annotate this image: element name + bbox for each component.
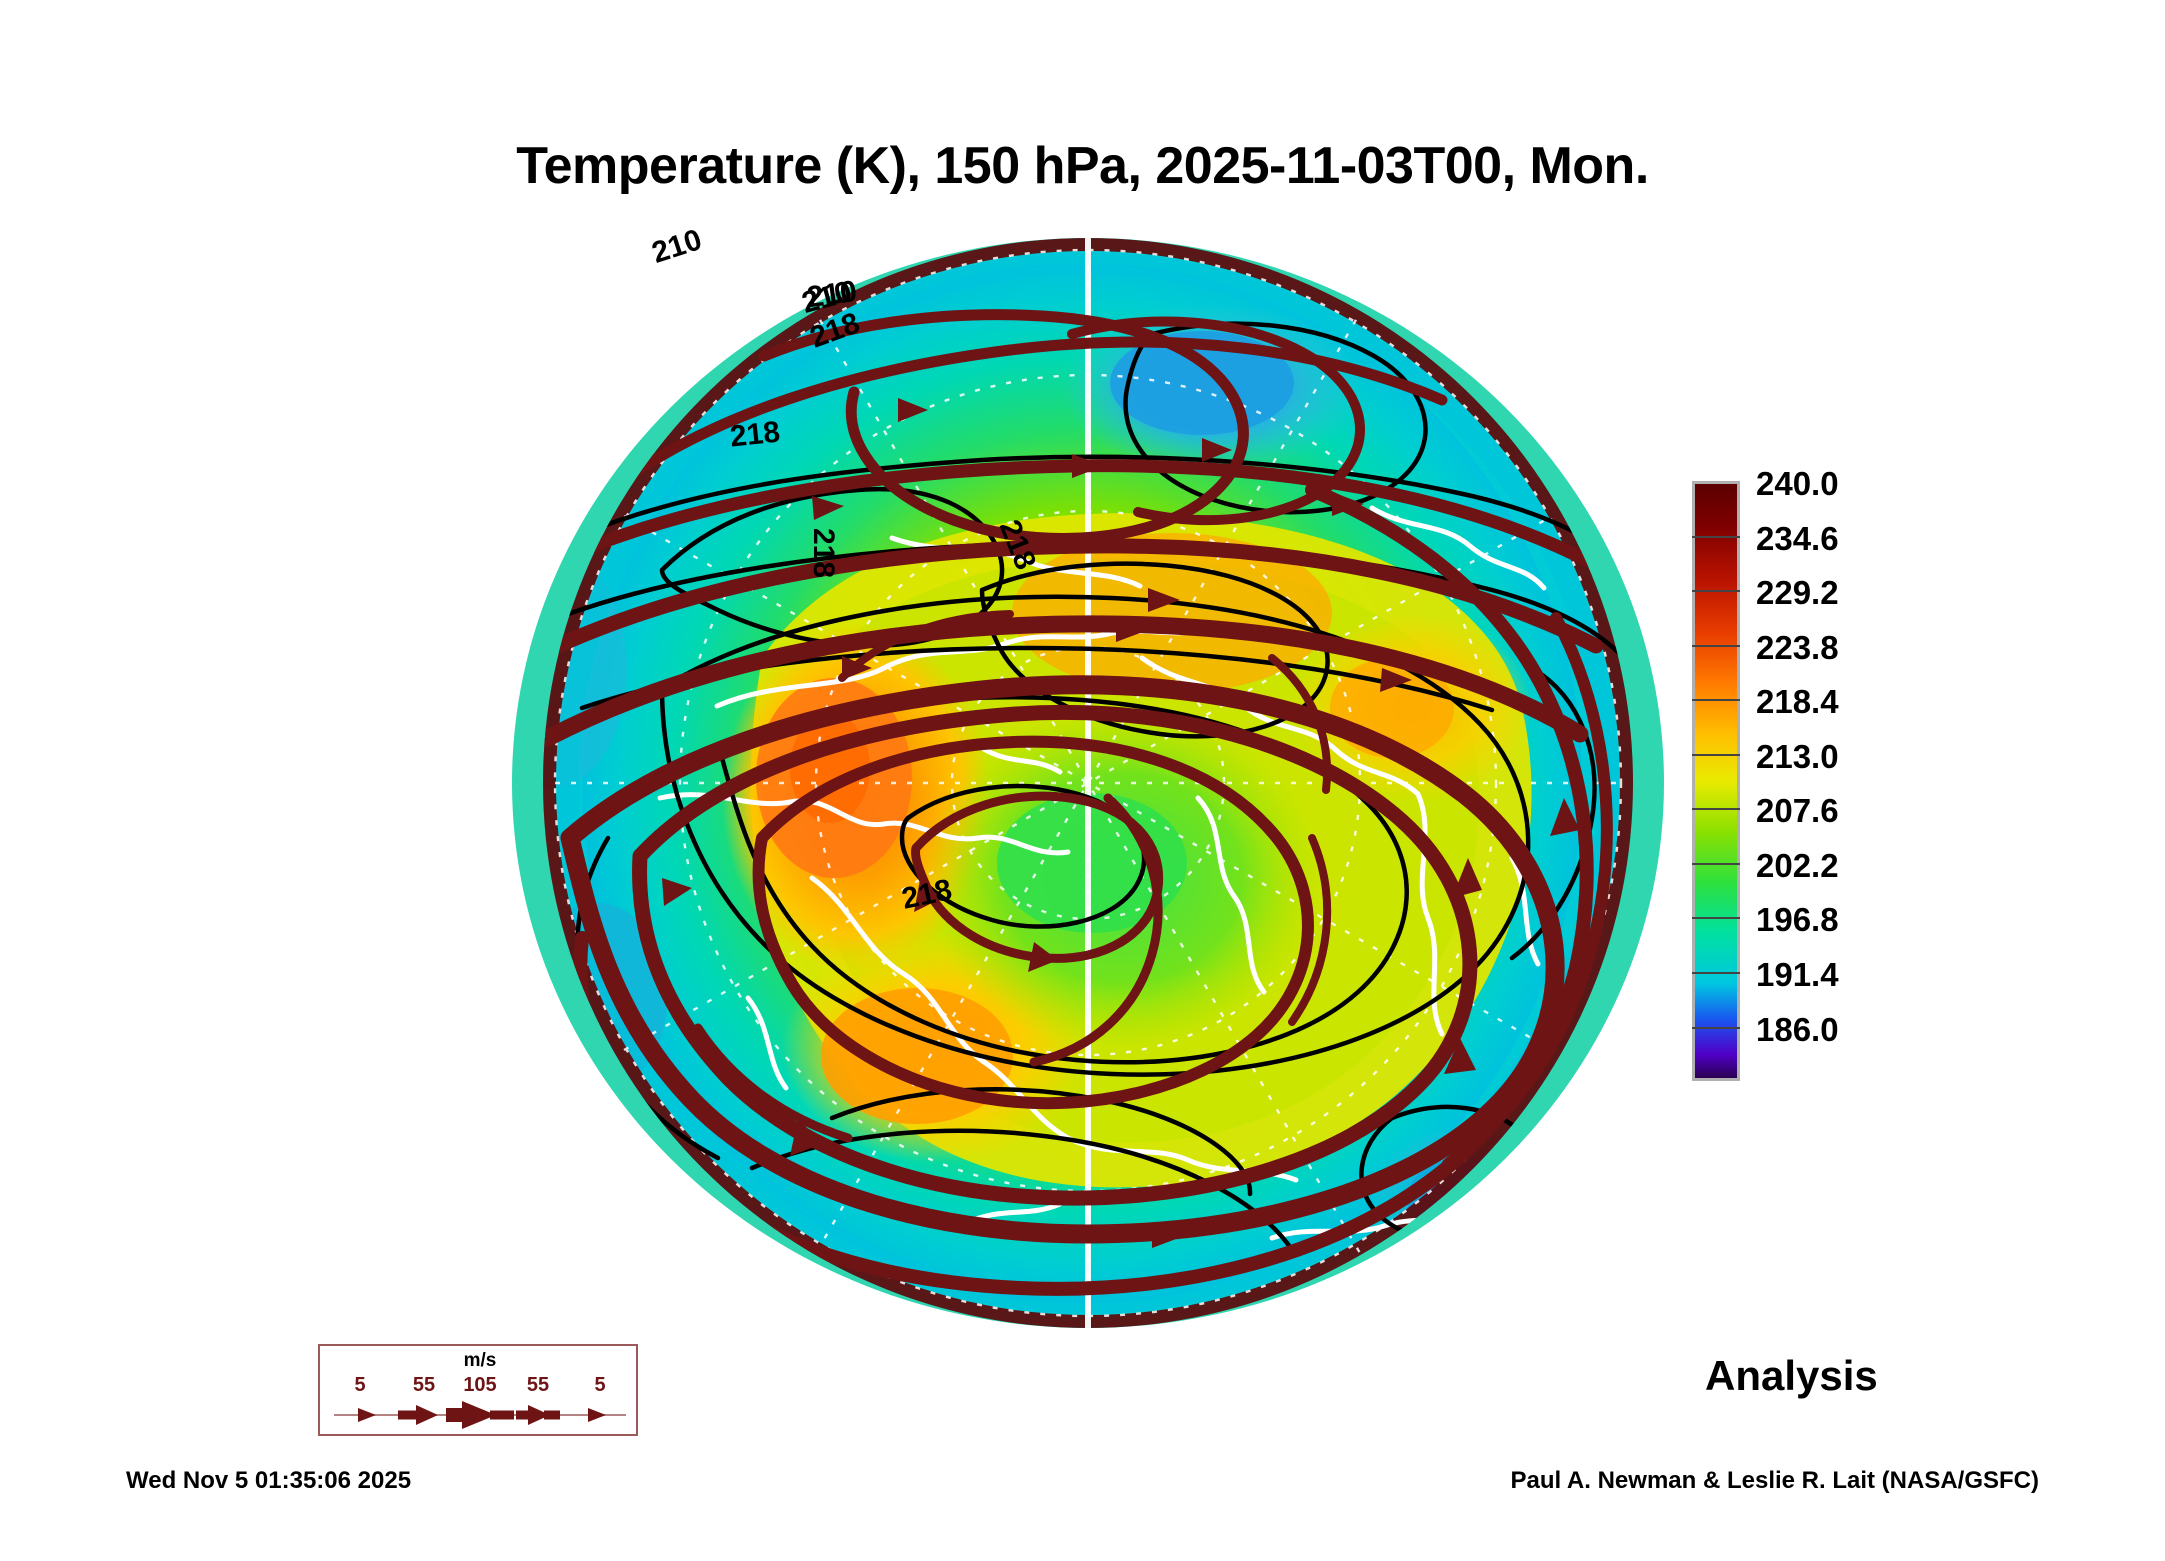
wind-speed-legend[interactable]: m/s 5 55 105 55 5	[318, 1344, 638, 1436]
polar-map-panel[interactable]: 210 210 210 210 210 210 210 210 210 210 …	[512, 238, 1664, 1328]
contour-label-218-center: 218	[806, 528, 840, 578]
globe-disc[interactable]: 210 210 210 210 210 210 210 210 210 210 …	[512, 238, 1664, 1328]
wind-arrow-scale-icon	[320, 1398, 640, 1432]
colorbar-label-234-6: 234.6	[1756, 522, 1839, 555]
colorbar-label-207-6: 207.6	[1756, 794, 1839, 827]
wind-tick-55-left: 55	[413, 1374, 435, 1397]
colorbar-label-229-2: 229.2	[1756, 576, 1839, 609]
generation-timestamp: Wed Nov 5 01:35:06 2025	[126, 1467, 411, 1495]
wind-tick-55-right: 55	[527, 1374, 549, 1397]
wind-tick-105: 105	[463, 1374, 496, 1397]
page-title: Temperature (K), 150 hPa, 2025-11-03T00,…	[0, 136, 2165, 196]
contour-label-218-center-top: 218	[728, 415, 781, 454]
colorbar-label-223-8: 223.8	[1756, 631, 1839, 664]
wind-tick-5-right: 5	[594, 1374, 605, 1397]
colorbar-panel[interactable]: 240.0 234.6 229.2 223.8 218.4 213.0 207.…	[1692, 481, 2122, 1086]
colorbar-label-218-4: 218.4	[1756, 685, 1839, 718]
wind-tick-5-left: 5	[354, 1374, 365, 1397]
colorbar-label-196-8: 196.8	[1756, 903, 1839, 936]
colorbar-label-191-4: 191.4	[1756, 958, 1839, 991]
colorbar-gradient[interactable]	[1692, 481, 1740, 1081]
colorbar-label-240: 240.0	[1756, 467, 1839, 500]
contour-label-210-nw-text: 210	[648, 223, 706, 271]
globe-temperature-field: 210 210 210	[512, 238, 1664, 1328]
author-credit: Paul A. Newman & Leslie R. Lait (NASA/GS…	[1510, 1467, 2039, 1495]
analysis-label: Analysis	[1705, 1352, 1878, 1400]
colorbar-label-186-0: 186.0	[1756, 1013, 1839, 1046]
colorbar-label-202-2: 202.2	[1756, 849, 1839, 882]
shaded-temperature-layer: 210 210 210	[512, 238, 1644, 1328]
colorbar-label-213-0: 213.0	[1756, 740, 1839, 773]
wind-legend-unit-label: m/s	[320, 1350, 640, 1372]
